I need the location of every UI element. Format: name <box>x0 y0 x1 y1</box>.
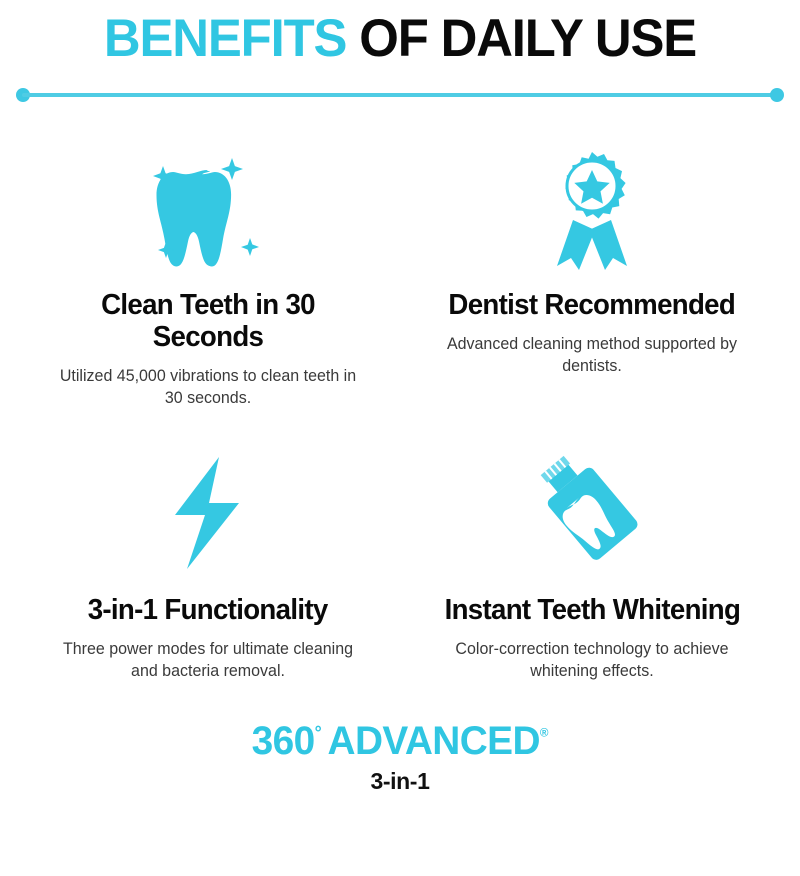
lightning-bolt-icon <box>153 451 263 575</box>
benefit-card-whitening: Instant Teeth Whitening Color-correction… <box>400 451 784 682</box>
brand-name: 360°ADVANCED® <box>252 721 548 761</box>
brand-lockup: 360°ADVANCED® 3-in-1 <box>0 721 800 793</box>
benefit-heading: Clean Teeth in 30 Seconds <box>48 290 368 354</box>
divider-line <box>22 93 778 97</box>
toothpaste-tube-icon <box>525 451 660 575</box>
benefit-card-functionality: 3-in-1 Functionality Three power modes f… <box>16 451 400 682</box>
benefit-card-dentist-recommended: Dentist Recommended Advanced cleaning me… <box>400 146 784 409</box>
benefit-body: Advanced cleaning method supported by de… <box>437 334 747 378</box>
page-header: BENEFITS OF DAILY USE <box>0 0 800 66</box>
award-ribbon-icon <box>527 146 657 270</box>
benefit-heading: Instant Teeth Whitening <box>444 595 740 627</box>
benefit-heading: Dentist Recommended <box>449 290 736 322</box>
brand-registered-symbol: ® <box>540 725 548 739</box>
brand-number: 360 <box>252 719 315 763</box>
page-title: BENEFITS OF DAILY USE <box>16 12 784 66</box>
brand-word: ADVANCED <box>328 719 540 763</box>
benefit-body: Utilized 45,000 vibrations to clean teet… <box>53 366 363 410</box>
page-title-accent: BENEFITS <box>104 9 346 68</box>
icon-container <box>133 146 283 270</box>
benefit-heading: 3-in-1 Functionality <box>88 595 328 627</box>
brand-degree-symbol: ° <box>315 721 322 742</box>
benefit-body: Three power modes for ultimate cleaning … <box>53 639 363 683</box>
page-title-rest: OF DAILY USE <box>346 9 696 68</box>
header-divider <box>16 88 784 102</box>
tooth-sparkle-icon <box>133 146 283 270</box>
divider-dot-right-icon <box>770 88 784 102</box>
benefit-card-clean-teeth: Clean Teeth in 30 Seconds Utilized 45,00… <box>16 146 400 409</box>
icon-container <box>527 146 657 270</box>
brand-subtitle: 3-in-1 <box>0 770 800 793</box>
benefits-grid: Clean Teeth in 30 Seconds Utilized 45,00… <box>0 146 800 683</box>
icon-container <box>153 451 263 575</box>
benefit-body: Color-correction technology to achieve w… <box>437 639 747 683</box>
icon-container <box>525 451 660 575</box>
